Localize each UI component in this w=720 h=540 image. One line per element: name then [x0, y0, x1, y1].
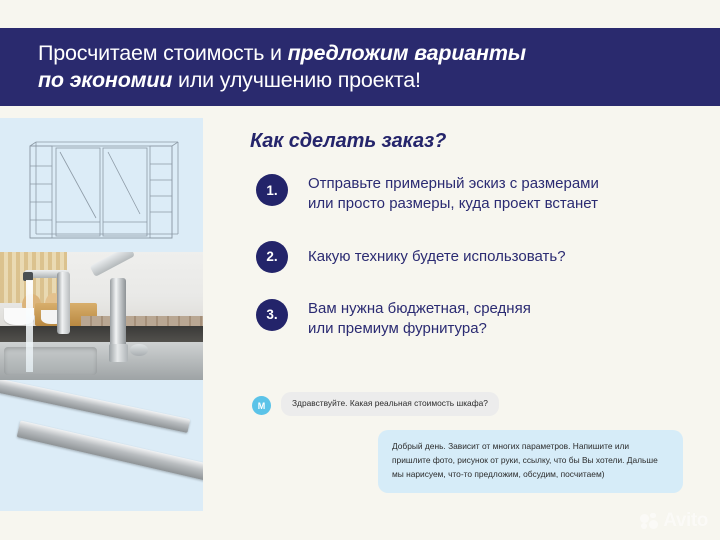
page-title: Как сделать заказ?: [250, 130, 720, 153]
headline-line2-plain: или улучшению проекта!: [172, 68, 421, 92]
steps-list: 1. Отправьте примерный эскиз с размерами…: [256, 173, 720, 340]
avito-logo-icon: [640, 513, 659, 530]
faucet-knob: [130, 344, 148, 356]
chat-bubble-incoming: Здравствуйте. Какая реальная стоимость ш…: [281, 392, 499, 416]
chat-conversation: M Здравствуйте. Какая реальная стоимость…: [252, 392, 692, 493]
list-item: 3. Вам нужна бюджетная, средняя или прем…: [256, 298, 720, 340]
chat-message-incoming: M Здравствуйте. Какая реальная стоимость…: [252, 392, 692, 416]
wardrobe-sketch-drawing: [0, 118, 203, 252]
photo-kitchen-faucet: [0, 252, 203, 380]
photo-column: [0, 118, 203, 511]
kitchen-scene: [0, 252, 203, 380]
faucet-spout-vertical: [57, 272, 70, 333]
headline-line1-plain: Просчитаем стоимость и: [38, 41, 288, 65]
photo-drawer-slides: [0, 380, 203, 511]
avito-wordmark: Avito: [663, 510, 708, 532]
water-stream: [26, 280, 32, 372]
avatar: M: [252, 396, 271, 415]
chat-message-outgoing: Добрый день. Зависит от многих параметро…: [252, 430, 692, 493]
headline-line2-emphasis: по экономии: [38, 68, 172, 92]
step-number-badge: 1.: [256, 174, 288, 206]
faucet-body: [110, 278, 126, 350]
faucet-base: [109, 344, 128, 362]
slide-root: Просчитаем стоимость и предложим вариант…: [0, 0, 720, 540]
step-text: Вам нужна бюджетная, средняя или премиум…: [308, 298, 531, 340]
sink-basin: [4, 347, 97, 375]
headline-line1-emphasis: предложим варианты: [288, 41, 526, 65]
avito-watermark: Avito: [640, 510, 708, 532]
step-text: Отправьте примерный эскиз с размерами ил…: [308, 173, 599, 215]
step-number-badge: 2.: [256, 241, 288, 273]
step-number-badge: 3.: [256, 299, 288, 331]
content-panel: Как сделать заказ? 1. Отправьте примерны…: [226, 118, 720, 340]
step-text: Какую технику будете использовать?: [308, 240, 566, 267]
list-item: 1. Отправьте примерный эскиз с размерами…: [256, 173, 720, 215]
list-item: 2. Какую технику будете использовать?: [256, 240, 720, 273]
chat-bubble-outgoing: Добрый день. Зависит от многих параметро…: [378, 430, 683, 493]
headline-text: Просчитаем стоимость и предложим вариант…: [0, 40, 562, 95]
headline-banner: Просчитаем стоимость и предложим вариант…: [0, 28, 720, 106]
photo-wardrobe-sketch: [0, 118, 203, 252]
